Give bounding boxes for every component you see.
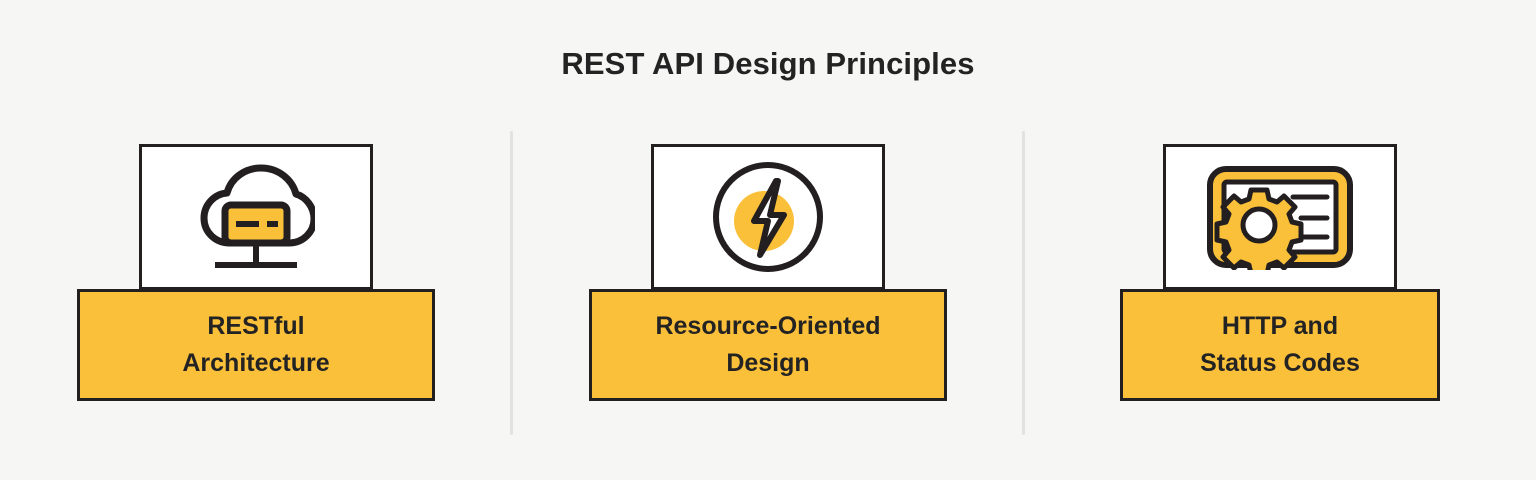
card-label-2: Resource-Oriented Design	[645, 308, 890, 382]
lightning-bolt-circle-icon	[710, 159, 826, 275]
card-label-1: RESTful Architecture	[172, 308, 339, 382]
icon-panel-2	[651, 144, 885, 290]
icon-panel-1	[139, 144, 373, 290]
card-restful-architecture[interactable]: RESTful Architecture	[0, 0, 512, 480]
card-label-3: HTTP and Status Codes	[1190, 308, 1370, 382]
cloud-server-icon	[197, 161, 315, 273]
card-http-and-status-codes[interactable]: HTTP and Status Codes	[1024, 0, 1536, 480]
label-box-3[interactable]: HTTP and Status Codes	[1120, 289, 1440, 401]
card-resource-oriented-design[interactable]: Resource-Oriented Design	[512, 0, 1024, 480]
icon-panel-3	[1163, 144, 1397, 290]
infographic-root: REST API Design Principles	[0, 0, 1536, 480]
gear-document-screen-icon	[1205, 164, 1355, 270]
label-box-1[interactable]: RESTful Architecture	[77, 289, 435, 401]
label-box-2[interactable]: Resource-Oriented Design	[589, 289, 947, 401]
